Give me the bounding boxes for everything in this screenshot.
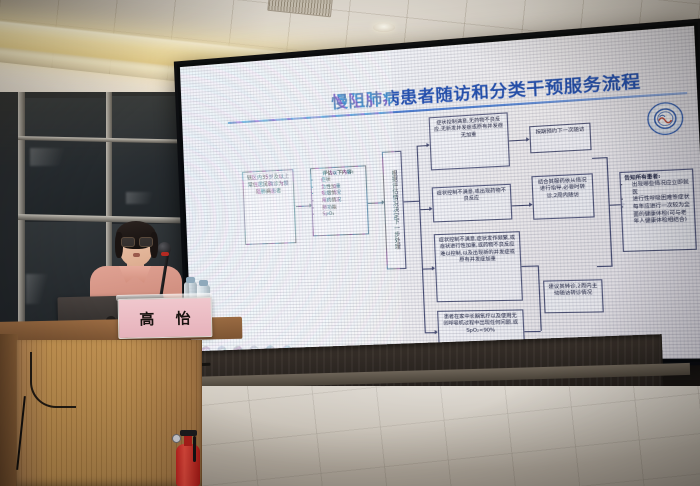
glass-reflection [126, 192, 174, 204]
led-pixel-grid [180, 26, 700, 361]
power-cable [30, 352, 76, 408]
eyeglasses [121, 237, 151, 245]
window-mullion [18, 92, 25, 360]
glass-reflection [30, 148, 90, 166]
led-screen-surface: 慢阻肺病患者随访和分类干预服务流程 [180, 26, 700, 361]
fire-extinguisher [176, 430, 200, 486]
led-display-screen: 慢阻肺病患者随访和分类干预服务流程 [177, 22, 700, 364]
extinguisher-hose [193, 436, 196, 462]
glass-reflection [26, 274, 60, 304]
nameplate-text: 高 怡 [131, 307, 199, 329]
eyeglass-lens [121, 237, 135, 247]
extinguisher-gauge [172, 434, 181, 443]
bottle-cap [199, 280, 208, 286]
eyeglass-lens [139, 237, 153, 247]
bottle-cap [186, 277, 195, 283]
extinguisher-body [176, 444, 200, 486]
speaker-nameplate: 高 怡 [118, 297, 213, 339]
microphone-windscreen [161, 252, 169, 256]
speaker-mouth [133, 253, 140, 257]
photo-scene: 慢阻肺病患者随访和分类干预服务流程 [0, 0, 700, 486]
